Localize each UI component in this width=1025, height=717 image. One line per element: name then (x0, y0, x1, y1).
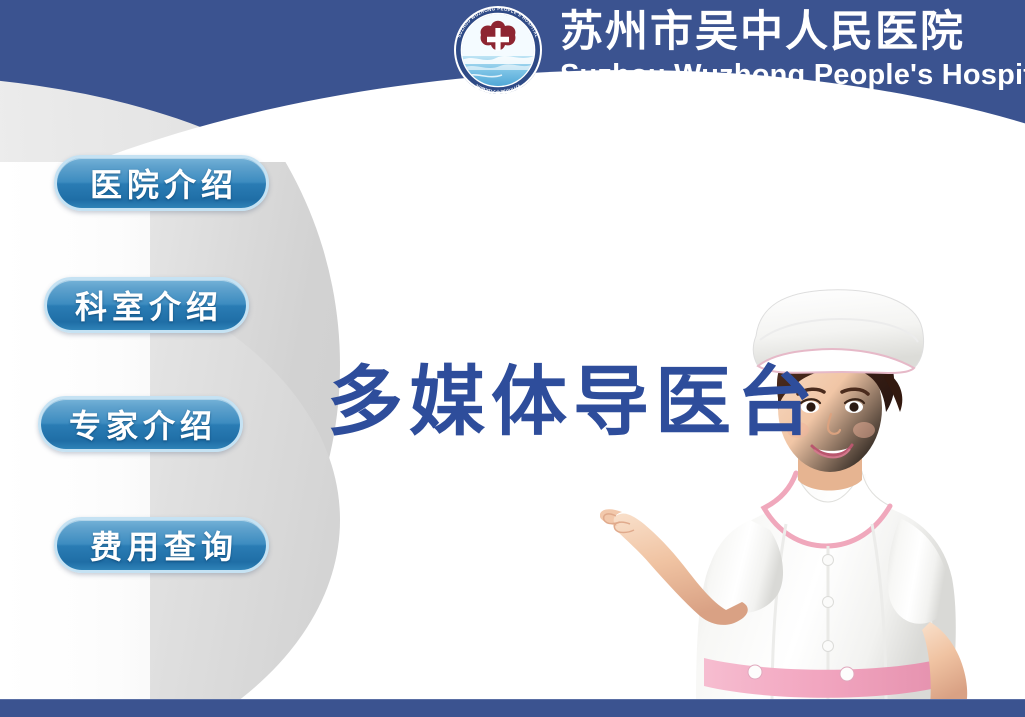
sidebar-nav: 医院介绍 科室介绍 专家介绍 费用查询 (0, 0, 300, 717)
nurse-photo (600, 280, 1025, 705)
sidebar-item-label: 科室介绍 (70, 282, 223, 328)
sidebar-item-expert-intro[interactable]: 专家介绍 (38, 396, 243, 452)
sidebar-item-department-intro[interactable]: 科室介绍 (44, 277, 249, 333)
sidebar-item-hospital-intro[interactable]: 医院介绍 (54, 155, 269, 211)
hospital-name-cn: 苏州市吴中人民医院 (560, 7, 1025, 57)
sidebar-item-label: 费用查询 (85, 522, 238, 568)
sidebar-item-label: 专家介绍 (64, 401, 217, 447)
brand-text: 苏州市吴中人民医院 Suzhou Wuzhong People's Hospit… (560, 7, 1025, 93)
page-title: 多媒体导医台 (327, 356, 819, 448)
hospital-name-en: Suzhou Wuzhong People's Hospital (560, 57, 1025, 93)
brand-block: SUZHOU WUZHONG PEOPLE'S HOSPITAL 苏州市吴中人民… (452, 4, 1025, 96)
kiosk-screen: SUZHOU WUZHONG PEOPLE'S HOSPITAL 苏州市吴中人民… (0, 0, 1025, 717)
sidebar-item-label: 医院介绍 (85, 160, 238, 206)
footer-bar (0, 699, 1025, 717)
hospital-seal-logo: SUZHOU WUZHONG PEOPLE'S HOSPITAL 苏州市吴中人民… (452, 4, 544, 96)
sidebar-item-fee-inquiry[interactable]: 费用查询 (54, 517, 269, 573)
